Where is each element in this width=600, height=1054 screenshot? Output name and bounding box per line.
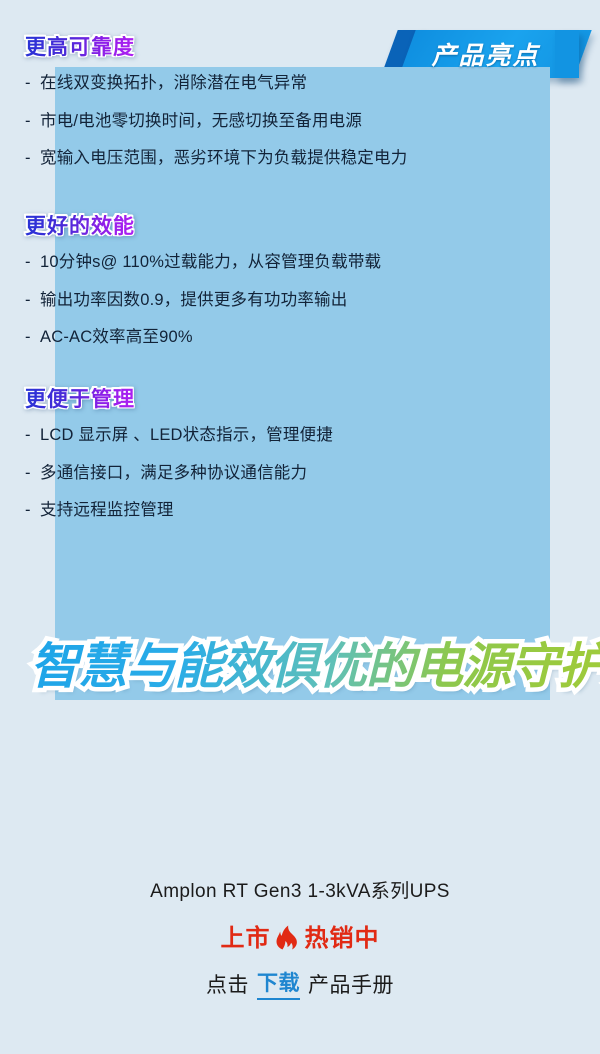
bullet-marker: - [25,290,40,311]
product-highlights-banner: 产品亮点 [393,30,578,78]
bullet-marker: - [25,425,40,446]
banner-title: 产品亮点 [393,30,578,78]
list-item: - AC-AC效率高至90% [25,327,545,348]
promo-suffix: 热销中 [305,918,380,953]
section-title: 更好的效能 [25,215,135,238]
list-item: - 输出功率因数0.9，提供更多有功功率输出 [25,290,545,311]
list-item: - 10分钟s@ 110%过载能力，从容管理负载带载 [25,252,545,273]
bullet-marker: - [25,252,40,273]
promo-prefix: 上市 [221,918,271,953]
product-name: Amplon RT Gen3 1-3kVA系列UPS [0,876,600,903]
headline-fill-layer: 智慧与能效俱优的电源守护方案 [30,627,600,698]
promo-banner: 上市 热销中 [0,918,600,953]
bullet-list: - 在线双变换拓扑，消除潜在电气异常 - 市电/电池零切换时间，无感切换至备用电… [25,73,545,169]
bullet-text: 市电/电池零切换时间，无感切换至备用电源 [40,111,545,132]
cta-prefix: 点击 [206,969,249,999]
bullet-list: - LCD 显示屏 、LED状态指示，管理便捷 - 多通信接口，满足多种协议通信… [25,425,545,521]
section-performance: 更好的效能 - 10分钟s@ 110%过载能力，从容管理负载带载 - 输出功率因… [25,215,545,365]
bullet-marker: - [25,73,40,94]
bullet-marker: - [25,148,40,169]
flame-icon [275,922,301,950]
bullet-marker: - [25,463,40,484]
bullet-marker: - [25,111,40,132]
bullet-text: 多通信接口，满足多种协议通信能力 [40,463,545,484]
headline-slogan: 智慧与能效俱优的电源守护方案 智慧与能效俱优的电源守护方案 [30,618,575,706]
bullet-text: LCD 显示屏 、LED状态指示，管理便捷 [40,425,545,446]
bullet-text: 支持远程监控管理 [40,500,545,521]
list-item: - LCD 显示屏 、LED状态指示，管理便捷 [25,425,545,446]
bullet-text: 10分钟s@ 110%过载能力，从容管理负载带载 [40,252,545,273]
list-item: - 宽输入电压范围，恶劣环境下为负载提供稳定电力 [25,148,545,169]
bullet-text: 输出功率因数0.9，提供更多有功功率输出 [40,290,545,311]
download-link[interactable]: 下载 [257,967,300,1000]
section-title: 更高可靠度 [25,36,135,59]
list-item: - 市电/电池零切换时间，无感切换至备用电源 [25,111,545,132]
bullet-list: - 10分钟s@ 110%过载能力，从容管理负载带载 - 输出功率因数0.9，提… [25,252,545,348]
download-cta: 点击 下载 产品手册 [0,967,600,1000]
bullet-marker: - [25,500,40,521]
section-title: 更便于管理 [25,388,135,411]
bullet-text: AC-AC效率高至90% [40,327,545,348]
section-management: 更便于管理 - LCD 显示屏 、LED状态指示，管理便捷 - 多通信接口，满足… [25,388,545,538]
list-item: - 支持远程监控管理 [25,500,545,521]
list-item: - 多通信接口，满足多种协议通信能力 [25,463,545,484]
bullet-text: 宽输入电压范围，恶劣环境下为负载提供稳定电力 [40,148,545,169]
cta-suffix: 产品手册 [308,969,394,999]
poster-page: 产品亮点 更高可靠度 - 在线双变换拓扑，消除潜在电气异常 - 市电/电池零切换… [0,0,600,1054]
bullet-marker: - [25,327,40,348]
